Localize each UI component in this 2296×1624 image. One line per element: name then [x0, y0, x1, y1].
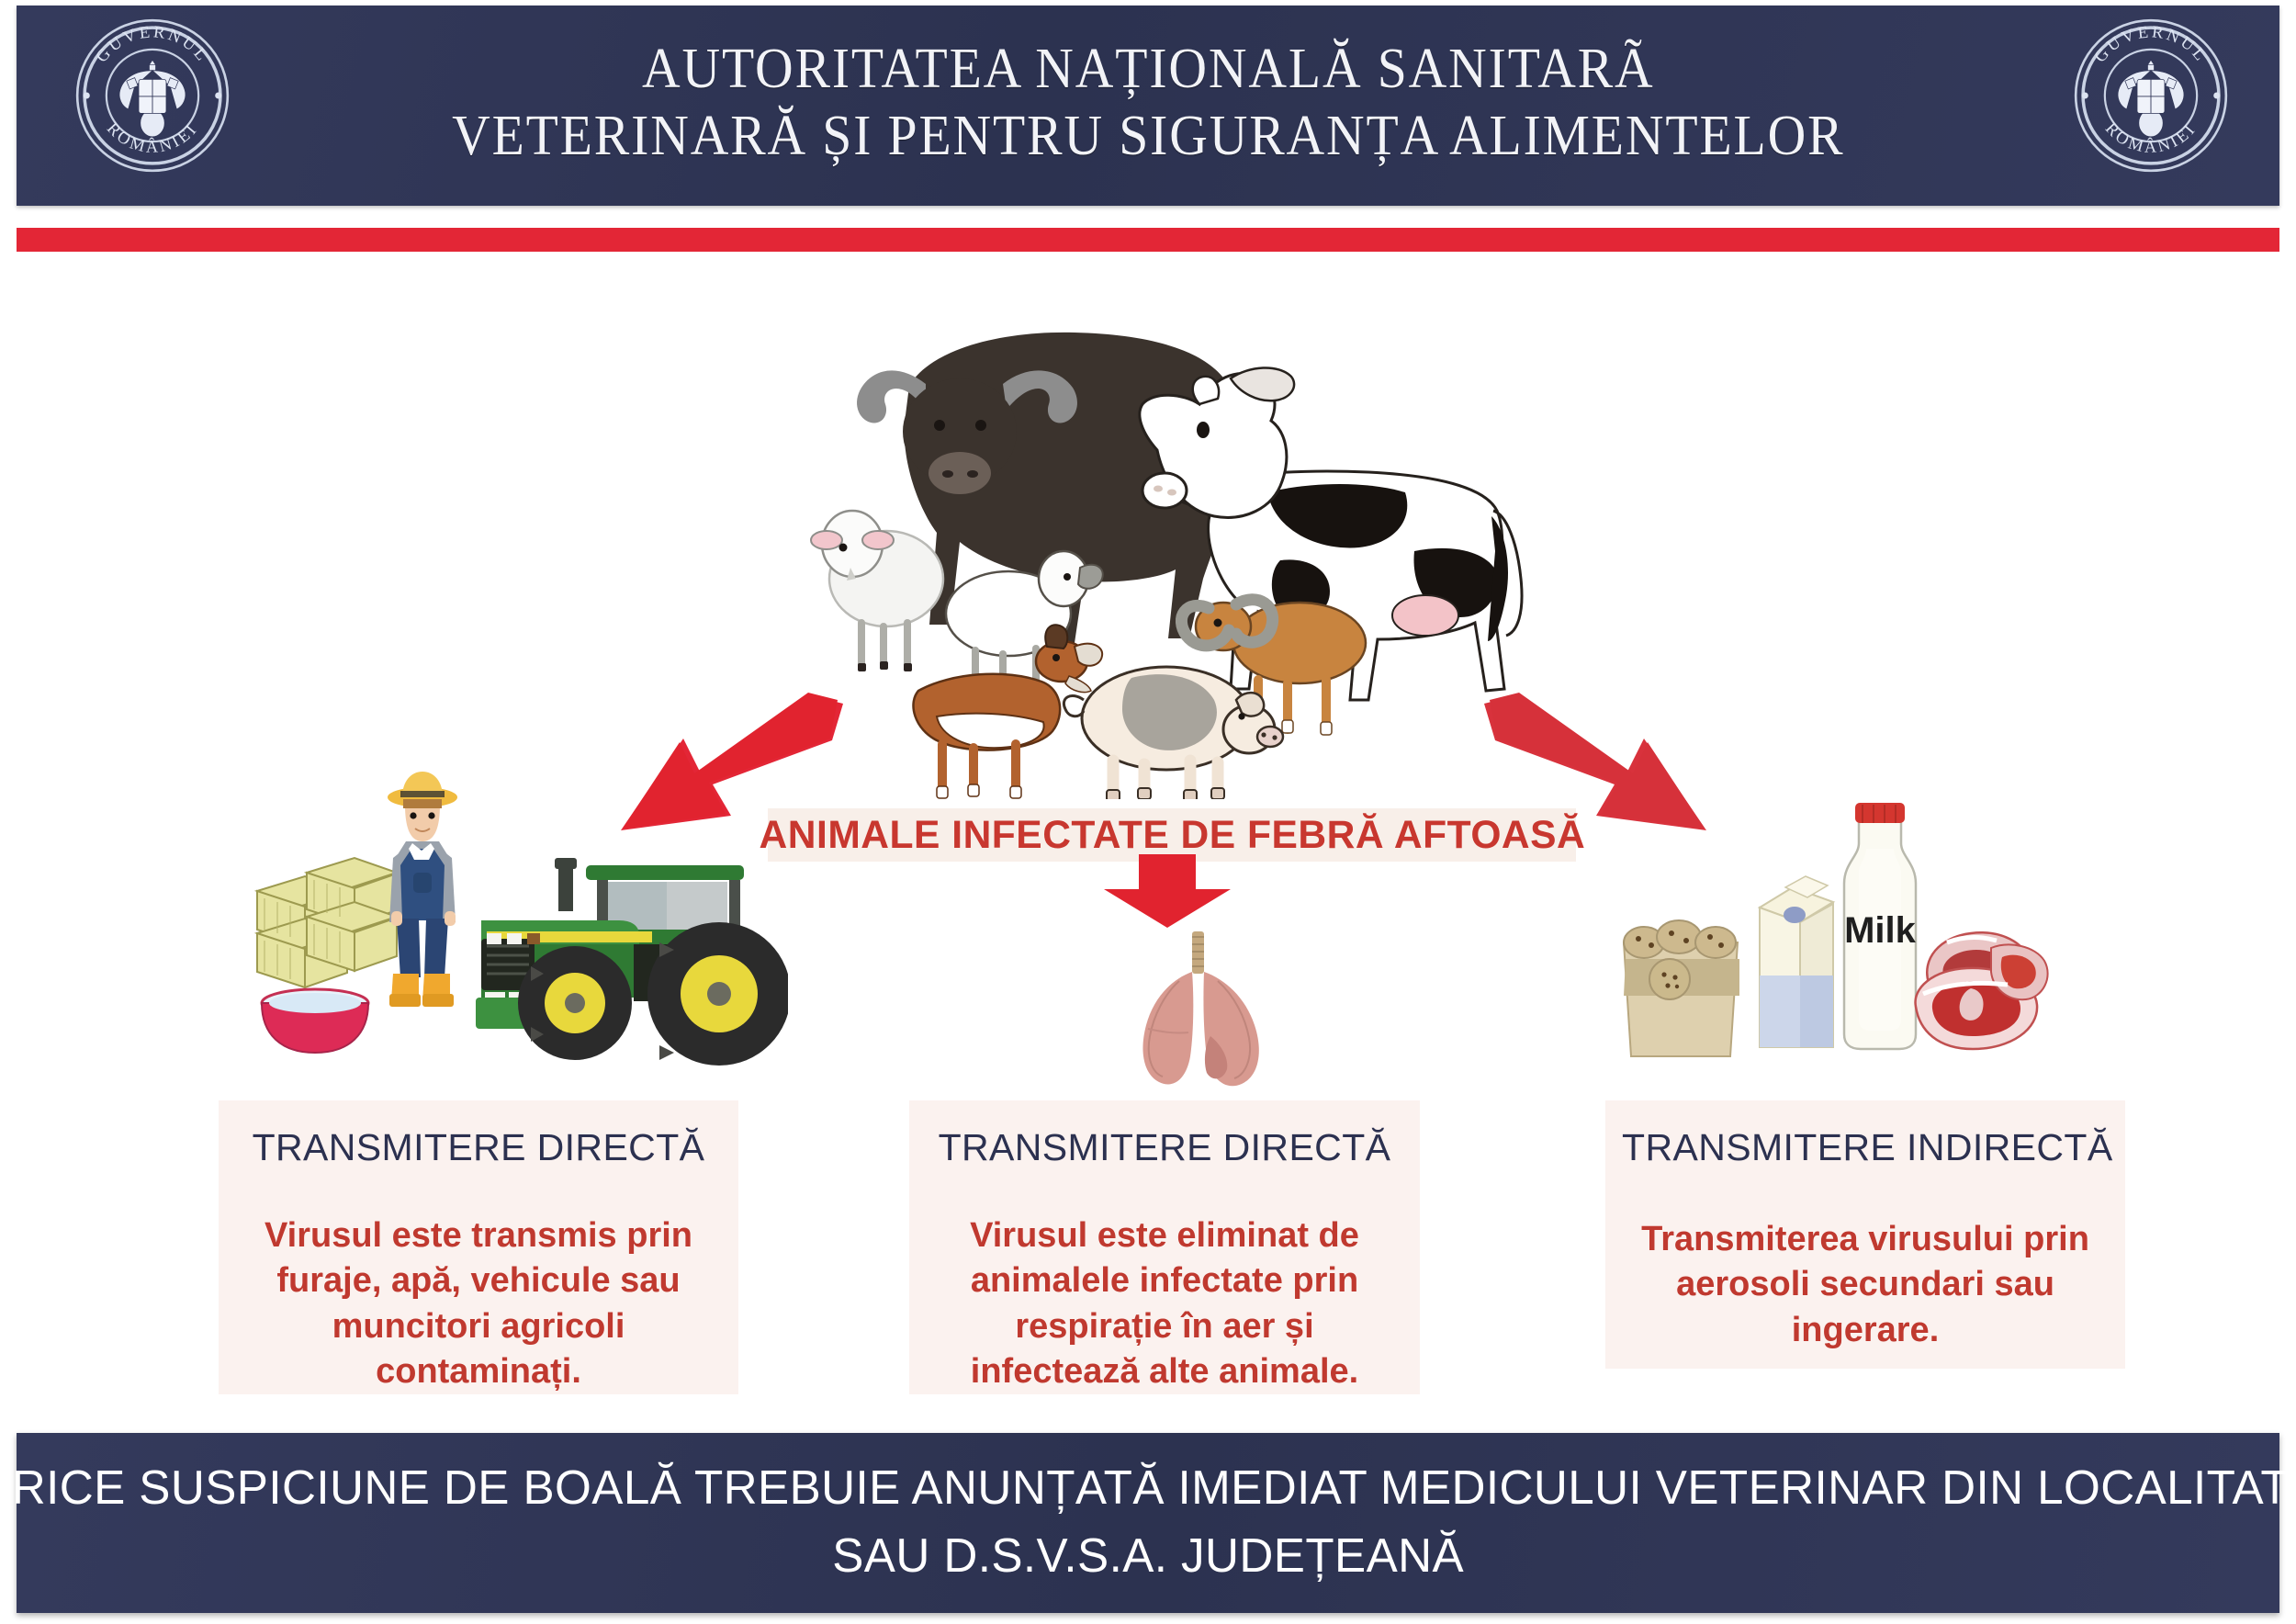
- panel-indirect-right: TRANSMITERE INDIRECTĂ Transmiterea virus…: [1605, 1100, 2125, 1369]
- government-seal-icon: GUVERNUL ROMÂNIEI: [2070, 15, 2232, 176]
- bread-bag-icon: [1624, 920, 1739, 1056]
- page-title: AUTORITATEA NAȚIONALĂ SANITARÃ VETERINAR…: [452, 36, 1844, 175]
- infected-animals-illustration: [771, 276, 1525, 799]
- indirect-transmission-illustration: Milk: [1605, 762, 2055, 1066]
- panel-title: TRANSMITERE DIRECTĂ: [926, 1126, 1403, 1169]
- panel-title: TRANSMITERE INDIRECTĂ: [1622, 1126, 2109, 1169]
- milk-bottle-icon: Milk: [1844, 803, 1917, 1049]
- meat-icon: [1916, 932, 2048, 1049]
- panel-title: TRANSMITERE DIRECTĂ: [235, 1126, 722, 1169]
- government-seal-icon: GUVERNUL ROMÂNIEI: [72, 15, 233, 176]
- milk-bottle-label: Milk: [1844, 910, 1917, 951]
- farmer-icon: [388, 772, 457, 1007]
- title-line-1: AUTORITATEA NAȚIONALĂ SANITARÃ: [452, 36, 1844, 103]
- hay-bales-icon: [257, 858, 397, 987]
- header-banner: AUTORITATEA NAȚIONALĂ SANITARÃ VETERINAR…: [17, 6, 2279, 206]
- sheep-icon: [811, 511, 943, 671]
- direct-transmission-left-illustration: [219, 762, 788, 1066]
- footer-line-1: ORICE SUSPICIUNE DE BOALĂ TREBUIE ANUNȚA…: [0, 1455, 2296, 1523]
- infected-animals-label-text: ANIMALE INFECTATE DE FEBRĂ AFTOASĂ: [759, 813, 1585, 858]
- title-line-2: VETERINARĂ ȘI PENTRU SIGURANȚA ALIMENTEL…: [452, 103, 1844, 170]
- water-bowl-icon: [262, 989, 368, 1053]
- panel-direct-left: TRANSMITERE DIRECTĂ Virusul este transmi…: [219, 1100, 738, 1394]
- lungs-icon: [1084, 928, 1313, 1093]
- red-accent-stripe: [17, 228, 2279, 252]
- footer-banner: ORICE SUSPICIUNE DE BOALĂ TREBUIE ANUNȚA…: [17, 1433, 2279, 1613]
- panel-body-text: Virusul este eliminat de animalele infec…: [931, 1213, 1398, 1395]
- footer-line-2: SAU D.S.V.S.A. JUDEȚEANĂ: [832, 1523, 1464, 1591]
- arrow-down-icon: [1098, 852, 1236, 930]
- milk-carton-icon: [1760, 876, 1833, 1047]
- tractor-icon: [476, 858, 788, 1066]
- panel-body-text: Virusul este transmis prin furaje, apă, …: [241, 1213, 716, 1395]
- panel-direct-middle: TRANSMITERE DIRECTĂ Virusul este elimina…: [909, 1100, 1420, 1394]
- panel-body-text: Transmiterea virusului prin aerosoli sec…: [1627, 1217, 2103, 1353]
